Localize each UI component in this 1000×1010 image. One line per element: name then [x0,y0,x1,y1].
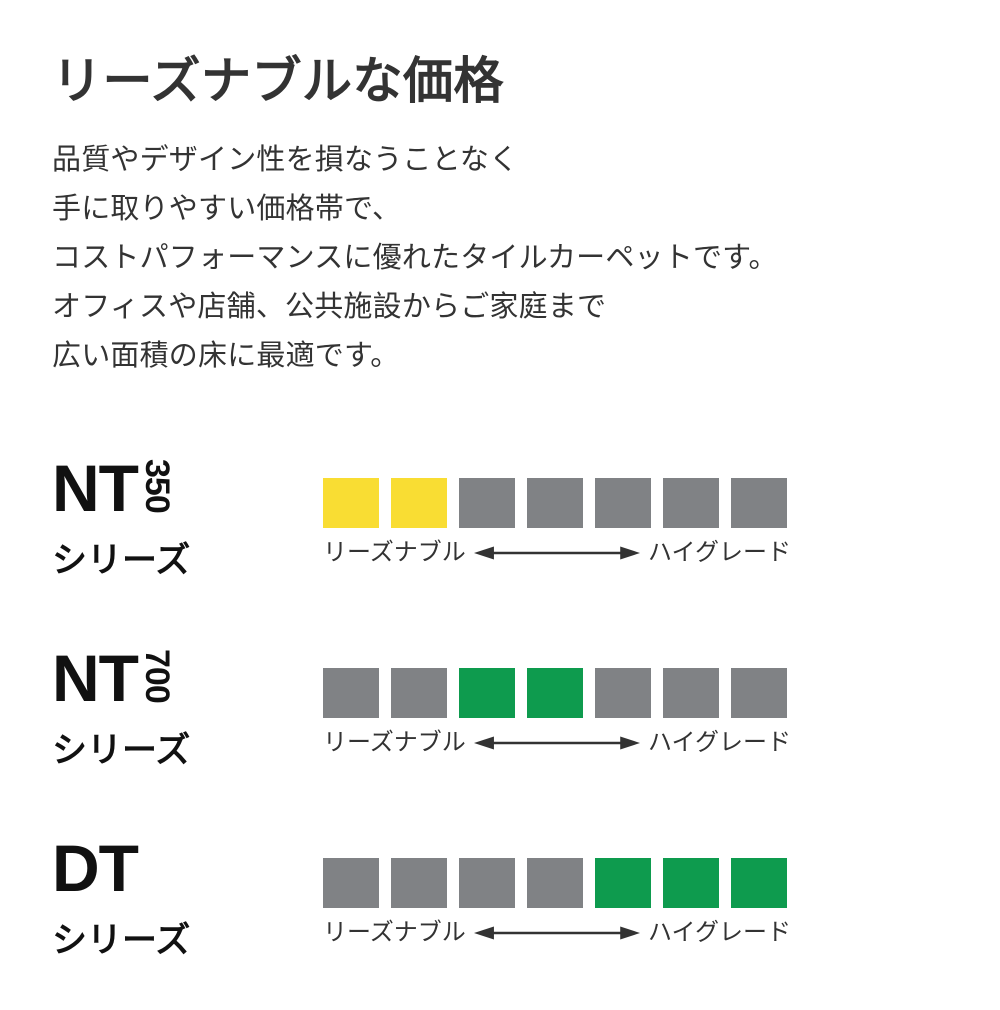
intro-line: オフィスや店舗、公共施設からご家庭まで [52,283,952,332]
swatch-cell [595,858,651,908]
page-title: リーズナブルな価格 [52,54,952,108]
swatch-cell [595,668,651,718]
grade-scale-nt350: リーズナブル ハイグレード [323,478,803,569]
intro-line: 手に取りやすい価格帯で、 [52,185,952,234]
swatch-cell [459,478,515,528]
axis-label-left: リーズナブル [323,541,466,565]
series-row: NT 700 シリーズ リーズナブル [0,630,1000,820]
swatch-cell [595,478,651,528]
double-headed-arrow-icon [474,544,640,562]
series-code: NT [52,648,138,709]
swatch-cell [527,478,583,528]
grade-scale-nt700: リーズナブル ハイグレード [323,668,803,759]
axis-label-left: リーズナブル [323,731,466,755]
axis-label-right: ハイグレード [648,731,791,755]
series-label-dt: DT シリーズ [52,838,282,963]
series-suffix: シリーズ [52,722,282,773]
intro-line: 品質やデザイン性を損なうことなく [52,136,952,185]
intro-section: リーズナブルな価格 品質やデザイン性を損なうことなく 手に取りやすい価格帯で、 … [52,54,952,381]
swatch-cell [731,858,787,908]
swatch-strip [323,668,803,718]
double-headed-arrow-icon [474,734,640,752]
swatch-cell [663,858,719,908]
grade-axis: リーズナブル ハイグレード [323,917,791,949]
axis-label-right: ハイグレード [648,921,791,945]
series-suffix: シリーズ [52,912,282,963]
intro-line: コストパフォーマンスに優れたタイルカーペットです。 [52,234,952,283]
swatch-cell [731,478,787,528]
swatch-cell [459,668,515,718]
swatch-cell [459,858,515,908]
series-number: 350 [140,459,174,523]
swatch-cell [663,668,719,718]
swatch-cell [527,858,583,908]
swatch-cell [663,478,719,528]
swatch-cell [323,478,379,528]
swatch-cell [323,668,379,718]
swatch-cell [391,478,447,528]
series-code: NT [52,458,138,519]
swatch-cell [391,668,447,718]
series-name: NT 700 [52,648,282,712]
series-row: DT シリーズ リーズナブル [0,820,1000,1010]
series-name: NT 350 [52,458,282,522]
swatch-cell [527,668,583,718]
swatch-cell [323,858,379,908]
series-suffix: シリーズ [52,532,282,583]
grade-scale-dt: リーズナブル ハイグレード [323,858,803,949]
intro-paragraph: 品質やデザイン性を損なうことなく 手に取りやすい価格帯で、 コストパフォーマンス… [52,136,952,381]
series-number: 700 [140,649,174,713]
series-label-nt700: NT 700 シリーズ [52,648,282,773]
intro-line: 広い面積の床に最適です。 [52,332,952,381]
swatch-strip [323,858,803,908]
grade-axis: リーズナブル ハイグレード [323,727,791,759]
double-headed-arrow-icon [474,924,640,942]
grade-axis: リーズナブル ハイグレード [323,537,791,569]
series-row: NT 350 シリーズ リーズナブル [0,440,1000,630]
axis-label-right: ハイグレード [648,541,791,565]
swatch-strip [323,478,803,528]
series-name: DT [52,838,282,902]
axis-label-left: リーズナブル [323,921,466,945]
swatch-cell [731,668,787,718]
series-label-nt350: NT 350 シリーズ [52,458,282,583]
series-code: DT [52,838,138,899]
series-comparison-list: NT 350 シリーズ リーズナブル [0,440,1000,1010]
swatch-cell [391,858,447,908]
